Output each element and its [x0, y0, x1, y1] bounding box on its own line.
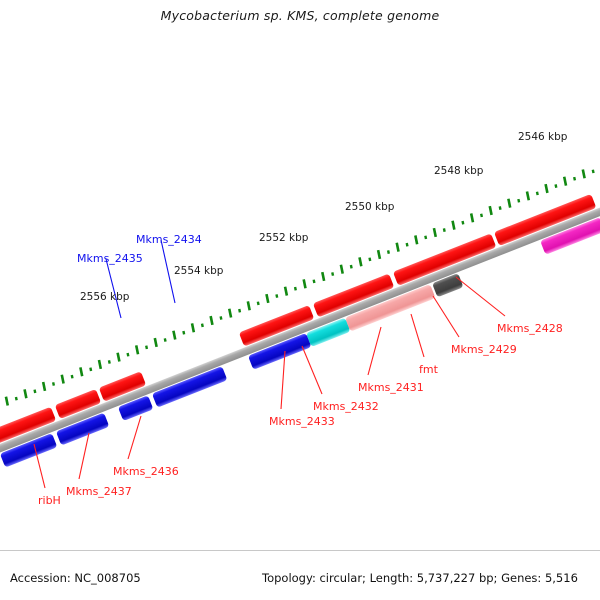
scale-tick: [480, 213, 483, 217]
scale-tick: [191, 323, 195, 332]
scale-tick: [219, 316, 222, 320]
gene-label[interactable]: Mkms_2428: [497, 322, 563, 335]
gene-label[interactable]: Mkms_2436: [113, 465, 179, 478]
scale-tick: [33, 389, 36, 393]
label-leader-line: [281, 351, 285, 409]
scale-tick: [42, 382, 46, 391]
scale-tick: [526, 191, 530, 200]
gene-label[interactable]: Mkms_2437: [66, 485, 132, 498]
scale-tick: [284, 286, 288, 295]
scale-tick: [52, 382, 55, 386]
scale-tick: [350, 265, 353, 269]
gene-label[interactable]: Mkms_2433: [269, 415, 335, 428]
scale-tick: [23, 389, 27, 398]
genome-map-viewer: Mycobacterium sp. KMS, complete genome: [0, 0, 600, 600]
label-leader-line: [79, 433, 89, 479]
scale-tick: [275, 294, 278, 298]
scale-tick: [563, 177, 567, 186]
scale-tick: [98, 360, 102, 369]
scale-tick: [228, 308, 232, 317]
scale-tick-row: [0, 154, 600, 421]
scale-tick: [5, 396, 9, 405]
scale-tick: [238, 309, 241, 313]
scale-tick: [395, 243, 399, 252]
scale-tick: [172, 330, 176, 339]
gene-label[interactable]: fmt: [419, 363, 438, 376]
label-leader-line: [128, 416, 141, 459]
scale-label: 2550 kbp: [345, 201, 394, 213]
scale-tick: [544, 184, 548, 193]
scale-tick: [294, 287, 297, 291]
scale-tick: [517, 199, 520, 203]
scale-tick: [89, 367, 92, 371]
scale-tick: [257, 301, 260, 305]
scale-tick: [182, 331, 185, 335]
scale-tick: [61, 374, 65, 383]
scale-tick: [201, 323, 204, 327]
scale-label: 2554 kbp: [174, 265, 223, 277]
label-leader-line: [302, 346, 322, 394]
scale-label: 2546 kbp: [518, 131, 567, 143]
scale-tick: [71, 375, 74, 379]
scale-tick: [209, 316, 213, 325]
label-leader-line: [161, 240, 175, 303]
scale-tick: [377, 250, 381, 259]
scale-tick: [154, 338, 158, 347]
scale-tick: [15, 397, 18, 401]
scale-tick: [79, 367, 83, 376]
gene-label[interactable]: Mkms_2432: [313, 400, 379, 413]
scale-tick: [331, 272, 334, 276]
scale-tick: [424, 235, 427, 239]
label-leader-line: [456, 277, 505, 316]
scale-tick: [108, 360, 111, 364]
scale-tick: [489, 206, 493, 215]
scale-tick: [554, 184, 557, 188]
scale-label: 2552 kbp: [259, 232, 308, 244]
gene-label[interactable]: Mkms_2431: [358, 381, 424, 394]
accession-text: Accession: NC_008705: [10, 571, 141, 585]
scale-tick: [461, 221, 464, 225]
scale-tick: [135, 345, 139, 354]
scale-tick: [145, 345, 148, 349]
scale-tick: [406, 243, 409, 247]
scale-tick: [470, 213, 474, 222]
scale-tick: [321, 272, 325, 281]
footer-divider: [0, 550, 600, 551]
scale-tick: [126, 353, 129, 357]
scale-tick: [507, 199, 511, 208]
scale-tick: [536, 191, 539, 195]
scale-tick: [451, 221, 455, 230]
scale-tick: [387, 250, 390, 254]
scale-tick: [592, 169, 595, 173]
scale-label: 2548 kbp: [434, 165, 483, 177]
scale-tick: [582, 169, 586, 178]
gene-label[interactable]: ribH: [38, 494, 61, 507]
topology-text: Topology: circular; Length: 5,737,227 bp…: [262, 571, 578, 585]
gene-label[interactable]: Mkms_2435: [77, 252, 143, 265]
scale-tick: [340, 264, 344, 273]
scale-tick: [116, 352, 120, 361]
gene-label[interactable]: Mkms_2429: [451, 343, 517, 356]
label-leader-line: [411, 314, 424, 357]
label-leader-line: [106, 259, 121, 318]
scale-tick: [499, 206, 502, 210]
scale-tick: [414, 235, 418, 244]
scale-tick: [313, 279, 316, 283]
scale-tick: [164, 338, 167, 342]
scale-tick: [573, 177, 576, 181]
gene-label[interactable]: Mkms_2434: [136, 233, 202, 246]
scale-tick: [302, 279, 306, 288]
scale-tick: [358, 257, 362, 266]
scale-tick: [443, 228, 446, 232]
scale-label: 2556 kbp: [80, 291, 129, 303]
scale-tick: [265, 294, 269, 303]
label-leader-line: [433, 296, 459, 337]
scale-tick: [247, 301, 251, 310]
scale-tick: [433, 228, 437, 237]
scale-tick: [368, 257, 371, 261]
label-leader-line: [368, 327, 381, 375]
